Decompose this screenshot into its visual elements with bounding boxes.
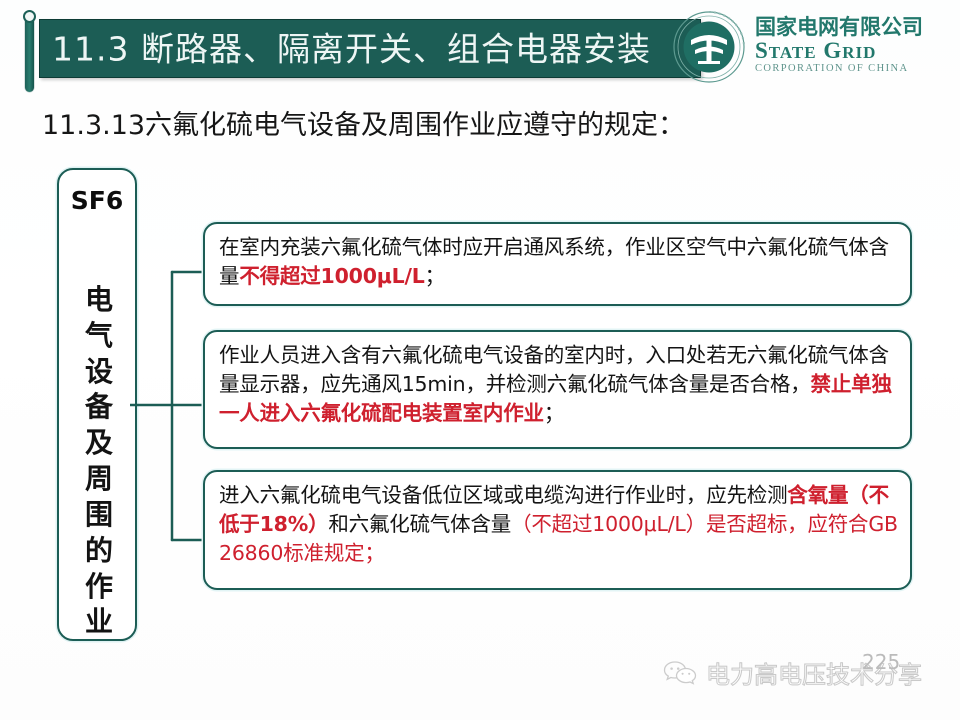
text-run-2: 和六氟化硫气体含量	[328, 512, 511, 536]
content-text-3: 进入六氟化硫电气设备低位区域或电缆沟进行作业时，应先检测含氧量（不低于18%）和…	[219, 481, 898, 568]
sg-en-s: S	[755, 38, 769, 63]
header-pin-cap-icon	[23, 10, 36, 23]
content-box-3: 进入六氟化硫电气设备低位区域或电缆沟进行作业时，应先检测含氧量（不低于18%）和…	[203, 470, 912, 590]
text-run-2: ；	[425, 264, 445, 288]
content-box-1: 在室内充装六氟化硫气体时应开启通风系统，作业区空气中六氟化硫气体含量不得超过10…	[203, 222, 912, 306]
sf6-vertical-label: 电气设备及周围的作业	[59, 282, 139, 640]
vertical-char-5: 周	[59, 461, 139, 497]
content-box-2: 作业人员进入含有六氟化硫电气设备的室内时，入口处若无六氟化硫气体含量显示器，应先…	[203, 330, 912, 449]
header-pin-bar	[25, 14, 34, 92]
vertical-char-6: 围	[59, 497, 139, 533]
sg-en-tate: TATE	[769, 43, 817, 62]
sf6-vertical-label-wrap: 电气设备及周围的作业	[59, 224, 139, 624]
state-grid-subtitle: CORPORATION OF CHINA	[755, 63, 955, 76]
text-run-2: ；	[544, 401, 564, 425]
sg-en-rid: RID	[842, 43, 876, 62]
header-title-bar: 11.3 断路器、隔离开关、组合电器安装	[39, 19, 701, 78]
section-subtitle: 11.3.13六氟化硫电气设备及周围作业应遵守的规定：	[42, 103, 685, 142]
text-run-1: 不得超过1000μL/L	[239, 264, 424, 288]
vertical-char-4: 及	[59, 425, 139, 461]
sg-en-g: G	[823, 38, 842, 63]
bracket-connector	[130, 210, 210, 600]
state-grid-en-name: STATE GRID	[755, 38, 955, 63]
wechat-icon	[663, 659, 697, 687]
content-text-1: 在室内充装六氟化硫气体时应开启通风系统，作业区空气中六氟化硫气体含量不得超过10…	[219, 233, 898, 291]
vertical-char-3: 备	[59, 389, 139, 425]
state-grid-cn-name: 国家电网有限公司	[755, 16, 955, 38]
vertical-char-0: 电	[59, 282, 139, 318]
state-grid-emblem-icon	[668, 6, 750, 88]
page-title: 11.3 断路器、隔离开关、组合电器安装	[52, 32, 651, 65]
sf6-label: SF6	[59, 186, 135, 215]
vertical-char-2: 设	[59, 354, 139, 390]
text-run-0: 进入六氟化硫电气设备低位区域或电缆沟进行作业时，应先检测	[219, 483, 787, 507]
vertical-char-7: 的	[59, 533, 139, 569]
sf6-category-box: SF6 电气设备及周围的作业	[57, 168, 137, 641]
vertical-char-1: 气	[59, 318, 139, 354]
vertical-char-8: 作	[59, 569, 139, 605]
slide-header: 11.3 断路器、隔离开关、组合电器安装 国家电网有限公司 STATE GRID…	[0, 0, 960, 100]
vertical-char-9: 业	[59, 604, 139, 640]
content-text-2: 作业人员进入含有六氟化硫电气设备的室内时，入口处若无六氟化硫气体含量显示器，应先…	[219, 341, 898, 428]
text-run-0: 作业人员进入含有六氟化硫电气设备的室内时，入口处若无六氟化硫气体含量显示器，应先…	[219, 343, 889, 396]
state-grid-logo-text: 国家电网有限公司 STATE GRID CORPORATION OF CHINA	[755, 16, 955, 76]
page-number: 225	[862, 650, 900, 674]
slide-canvas: 11.3 断路器、隔离开关、组合电器安装 国家电网有限公司 STATE GRID…	[0, 0, 960, 720]
